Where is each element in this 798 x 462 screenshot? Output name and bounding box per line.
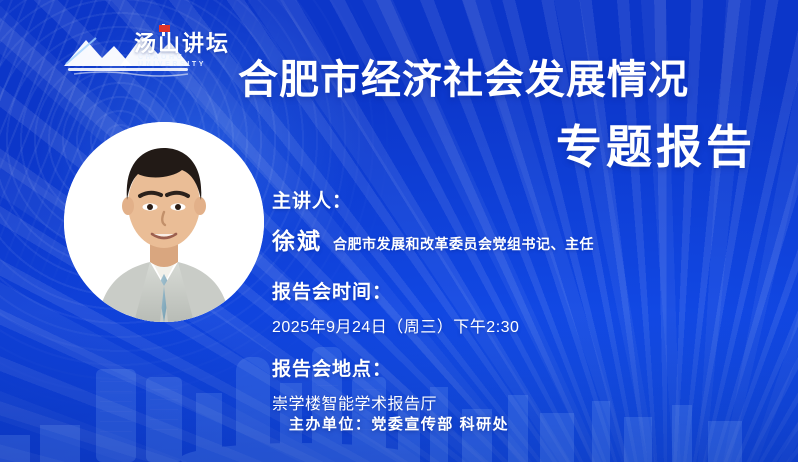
logo-text-en: CHAOHU UNIVERSITY (138, 54, 242, 68)
speaker-title: 合肥市发展和改革委员会党组书记、主任 (333, 234, 594, 254)
poster-banner: 汤山讲坛 CHAOHU UNIVERSITY (0, 0, 798, 462)
place-value: 崇学楼智能学术报告厅 (272, 390, 594, 414)
time-value: 2025年9月24日（周三）下午2:30 (272, 313, 594, 337)
speaker-portrait (64, 122, 264, 322)
speaker-row: 徐斌 合肥市发展和改革委员会党组书记、主任 (272, 222, 594, 256)
headline-line-1: 合肥市经济社会发展情况 (238, 58, 756, 102)
portrait-photo (64, 122, 264, 322)
headline-line-2: 专题报告 (238, 122, 756, 173)
spacer-after-speaker (272, 256, 594, 277)
time-label: 报告会时间： (272, 277, 594, 304)
speaker-name: 徐斌 (272, 222, 322, 256)
speaker-label: 主讲人： (272, 186, 594, 213)
organizer-footer: 主办单位：党委宣传部 科研处 (0, 413, 798, 434)
spacer-after-time (272, 337, 594, 354)
brand-logo: 汤山讲坛 CHAOHU UNIVERSITY (62, 22, 242, 80)
event-details: 主讲人： 徐斌 合肥市发展和改革委员会党组书记、主任 报告会时间： 2025年9… (272, 186, 594, 414)
headline-block: 合肥市经济社会发展情况 专题报告 (238, 58, 756, 173)
place-label: 报告会地点： (272, 354, 594, 381)
